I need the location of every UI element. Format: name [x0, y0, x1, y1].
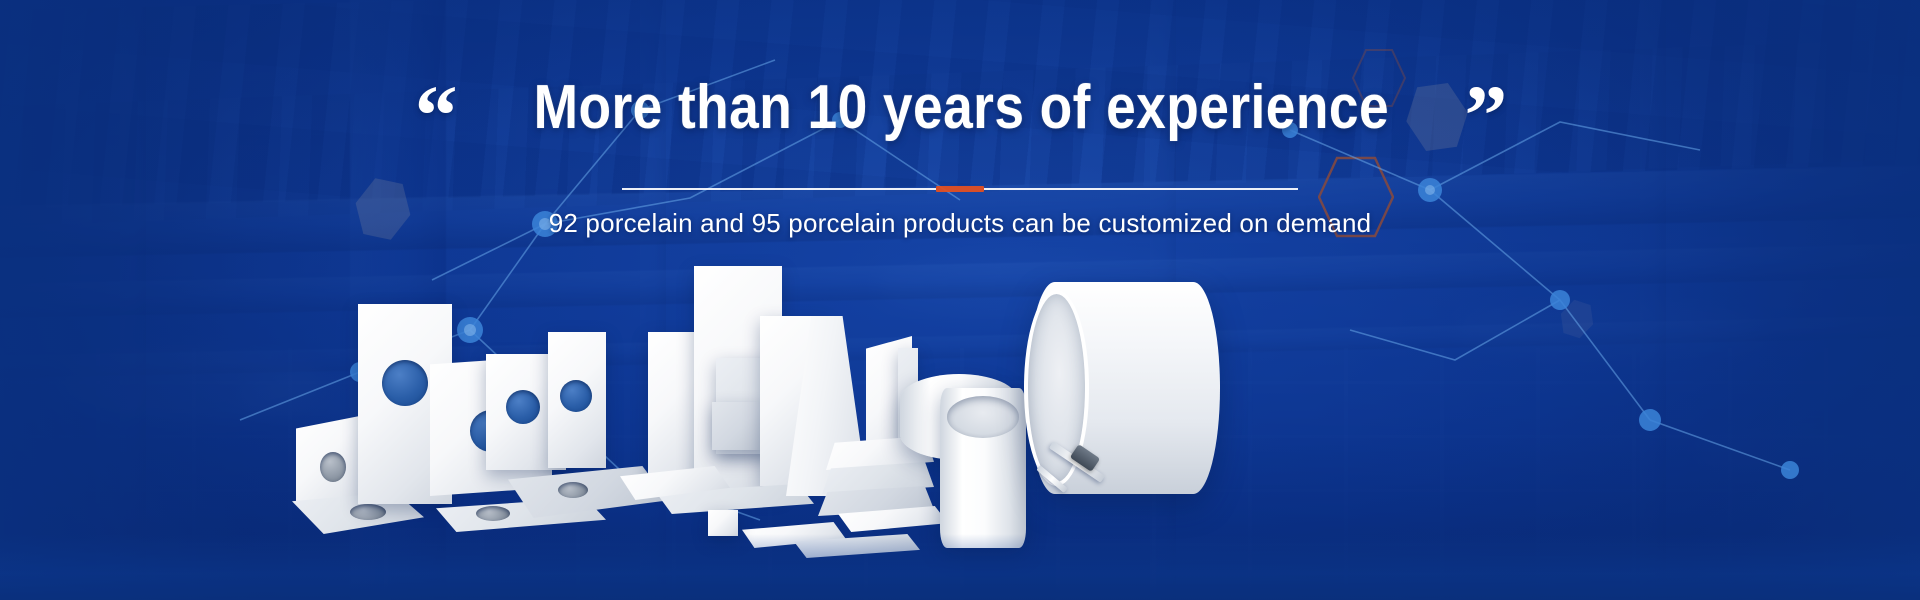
hero-banner: “ More than 10 years of experience ” 92 …: [0, 0, 1920, 600]
banner-content: “ More than 10 years of experience ” 92 …: [0, 0, 1920, 600]
banner-subtitle: 92 porcelain and 95 porcelain products c…: [549, 208, 1372, 239]
headline-row: “ More than 10 years of experience ”: [0, 76, 1920, 149]
quote-open-icon: “: [415, 82, 456, 149]
divider-accent: [936, 186, 984, 192]
quote-close-icon: ”: [1464, 82, 1505, 149]
page-title: More than 10 years of experience: [533, 76, 1388, 139]
title-divider: [622, 188, 1298, 190]
